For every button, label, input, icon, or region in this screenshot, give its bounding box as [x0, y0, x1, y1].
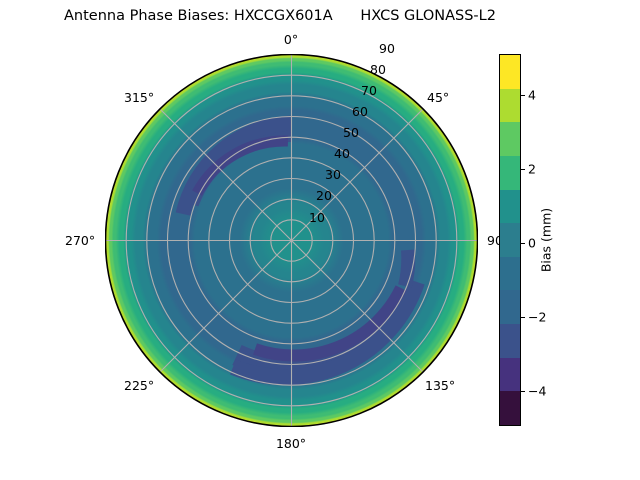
azimuth-label-45: 45° — [427, 90, 449, 105]
polar-plot[interactable]: 0° 45° 90 135° 180° 225° 270° 315° 10 20… — [105, 54, 478, 427]
figure-canvas: Antenna Phase Biases: HXCCGX601A HXCS GL… — [0, 0, 640, 480]
colorbar-ticklabel-neg4: −4 — [528, 384, 546, 399]
colorbar-ticklabel-2: 2 — [528, 162, 536, 177]
colorbar-ticklabel-neg2: −2 — [528, 310, 546, 325]
colorbar-band-7 — [500, 156, 520, 190]
colorbar-tick-neg4 — [521, 391, 525, 392]
colorbar-axis-label: Bias (mm) — [539, 208, 554, 272]
azimuth-label-225: 225° — [124, 378, 154, 393]
colorbar-tick-2 — [521, 169, 525, 170]
radial-label-10: 10 — [309, 210, 325, 225]
polar-plot-svg — [105, 54, 478, 427]
colorbar-tick-neg2 — [521, 317, 525, 318]
colorbar-band-0 — [500, 391, 520, 425]
colorbar-band-10 — [500, 55, 520, 89]
radial-label-20: 20 — [316, 188, 332, 203]
radial-label-70: 70 — [361, 83, 377, 98]
colorbar[interactable]: 4 2 0 −2 −4 — [499, 54, 521, 426]
azimuth-label-135: 135° — [425, 378, 455, 393]
colorbar-band-9 — [500, 89, 520, 123]
radial-label-90: 90 — [379, 41, 395, 56]
azimuth-label-0: 0° — [284, 32, 298, 47]
colorbar-band-1 — [500, 358, 520, 392]
colorbar-gradient — [499, 54, 521, 426]
colorbar-band-6 — [500, 190, 520, 224]
chart-title: Antenna Phase Biases: HXCCGX601A HXCS GL… — [0, 8, 560, 24]
colorbar-band-5 — [500, 223, 520, 257]
polar-angular-gridlines — [106, 55, 478, 427]
colorbar-band-2 — [500, 324, 520, 358]
colorbar-ticklabel-0: 0 — [528, 236, 536, 251]
colorbar-band-8 — [500, 122, 520, 156]
azimuth-label-270: 270° — [65, 233, 95, 248]
radial-label-60: 60 — [352, 104, 368, 119]
colorbar-band-3 — [500, 290, 520, 324]
azimuth-label-315: 315° — [124, 90, 154, 105]
azimuth-label-180: 180° — [276, 436, 306, 451]
radial-label-40: 40 — [334, 146, 350, 161]
radial-label-50: 50 — [343, 125, 359, 140]
colorbar-tick-0 — [521, 243, 525, 244]
colorbar-tick-4 — [521, 95, 525, 96]
radial-label-30: 30 — [325, 167, 341, 182]
radial-label-80: 80 — [370, 62, 386, 77]
colorbar-ticklabel-4: 4 — [528, 88, 536, 103]
colorbar-band-4 — [500, 257, 520, 291]
